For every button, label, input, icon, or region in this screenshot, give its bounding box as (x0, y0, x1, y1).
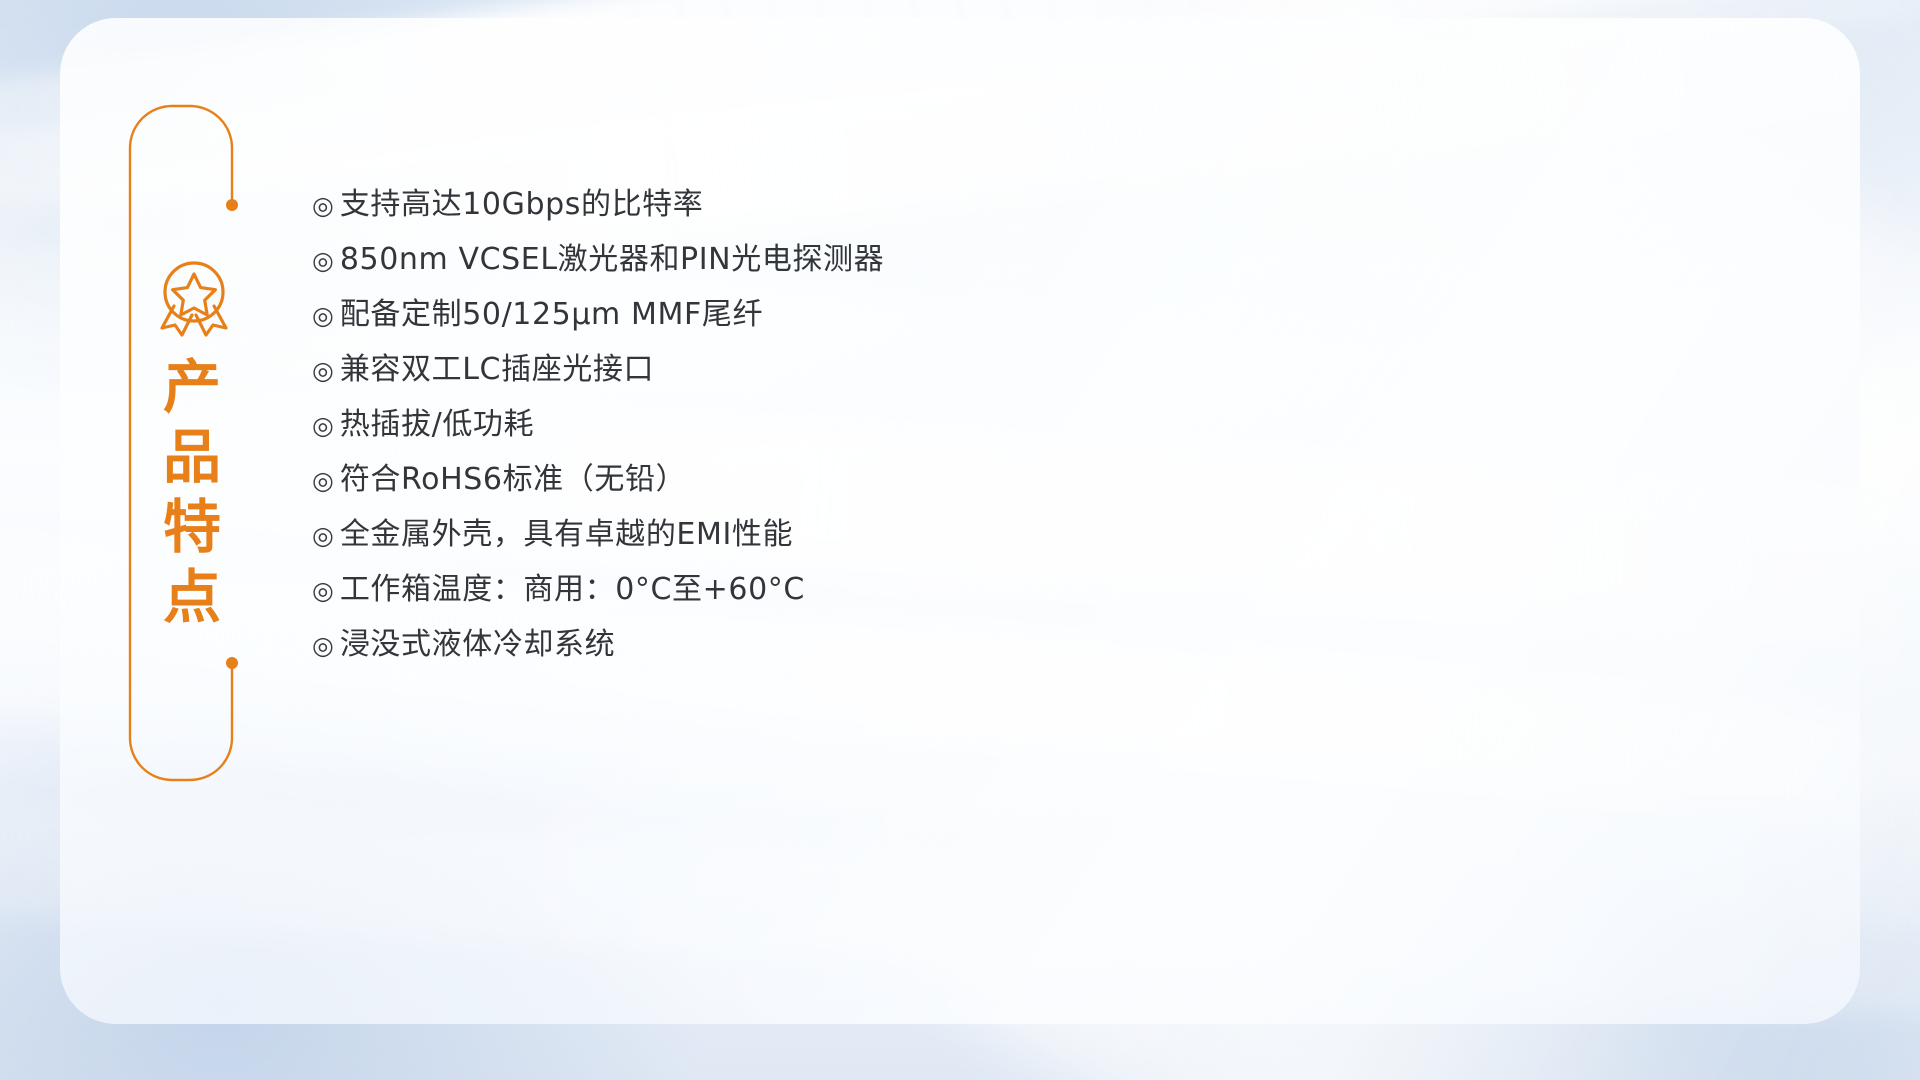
bullet-circle-icon: ◎ (312, 633, 334, 658)
list-item-label: 工作箱温度：商用：0°C至+60°C (340, 575, 805, 605)
bullet-circle-icon: ◎ (312, 523, 334, 548)
list-item-label: 符合RoHS6标准（无铅） (340, 465, 686, 495)
vertical-section-title: 产 品 特 点 (146, 352, 238, 632)
product-features-slide: 产 品 特 点 ◎ 支持高达10Gbps的比特率 ◎ 850nm VCSEL激光… (0, 0, 1920, 1080)
list-item: ◎ 全金属外壳，具有卓越的EMI性能 (312, 520, 1412, 575)
bullet-circle-icon: ◎ (312, 303, 334, 328)
bullet-circle-icon: ◎ (312, 193, 334, 218)
title-char: 点 (163, 562, 221, 632)
list-item: ◎ 符合RoHS6标准（无铅） (312, 465, 1412, 520)
list-item-label: 浸没式液体冷却系统 (340, 630, 615, 660)
list-item-label: 全金属外壳，具有卓越的EMI性能 (340, 520, 793, 550)
title-char: 品 (163, 422, 221, 492)
bullet-circle-icon: ◎ (312, 248, 334, 273)
title-char: 特 (163, 492, 221, 562)
list-item: ◎ 850nm VCSEL激光器和PIN光电探测器 (312, 245, 1412, 300)
list-item-label: 兼容双工LC插座光接口 (340, 355, 654, 385)
list-item: ◎ 工作箱温度：商用：0°C至+60°C (312, 575, 1412, 630)
bullet-circle-icon: ◎ (312, 358, 334, 383)
bullet-circle-icon: ◎ (312, 578, 334, 603)
bullet-circle-icon: ◎ (312, 468, 334, 493)
list-item-label: 配备定制50/125μm MMF尾纤 (340, 300, 763, 330)
list-item-label: 支持高达10Gbps的比特率 (340, 190, 704, 220)
bullet-circle-icon: ◎ (312, 413, 334, 438)
list-item: ◎ 浸没式液体冷却系统 (312, 630, 1412, 685)
list-item: ◎ 热插拔/低功耗 (312, 410, 1412, 465)
award-badge-icon (152, 258, 236, 342)
list-item-label: 热插拔/低功耗 (340, 410, 534, 440)
list-item: ◎ 支持高达10Gbps的比特率 (312, 190, 1412, 245)
list-item: ◎ 配备定制50/125μm MMF尾纤 (312, 300, 1412, 355)
list-item: ◎ 兼容双工LC插座光接口 (312, 355, 1412, 410)
feature-list: ◎ 支持高达10Gbps的比特率 ◎ 850nm VCSEL激光器和PIN光电探… (312, 190, 1412, 685)
list-item-label: 850nm VCSEL激光器和PIN光电探测器 (340, 245, 884, 275)
title-char: 产 (163, 352, 221, 422)
